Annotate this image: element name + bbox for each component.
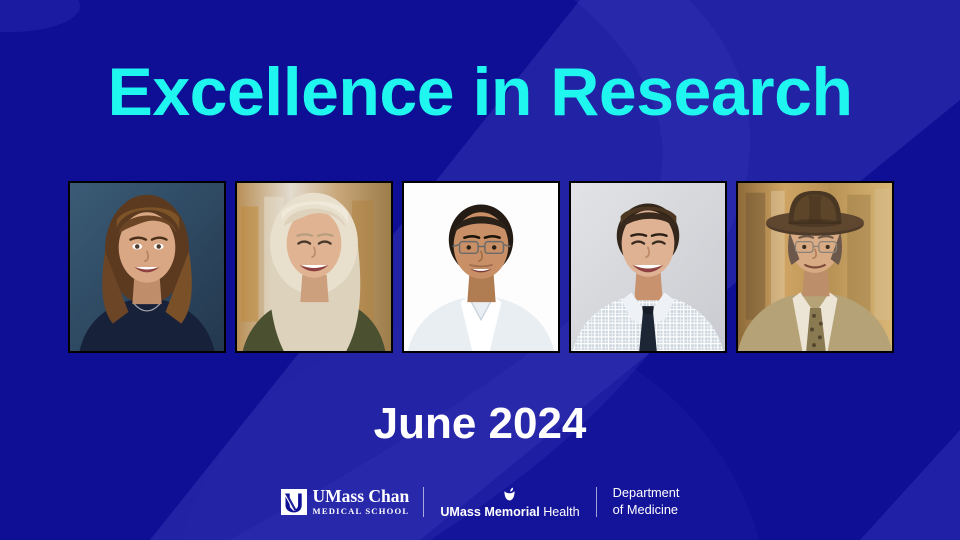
honoree-photo <box>402 181 560 353</box>
umass-chan-logo: UMass Chan MEDICAL SCHOOL <box>281 488 424 516</box>
presentation-title-slide: Excellence in Research <box>0 0 960 540</box>
honoree-photo-strip <box>68 181 894 353</box>
department-line-2: of Medicine <box>613 502 680 519</box>
honoree-photo <box>569 181 727 353</box>
honoree-photo <box>68 181 226 353</box>
slide-title: Excellence in Research <box>0 58 960 126</box>
umass-memorial-name-bold: UMass Memorial <box>440 505 539 519</box>
department-line-1: Department <box>613 485 680 502</box>
umass-chan-wordmark: UMass Chan <box>313 488 410 506</box>
honoree-photo <box>736 181 894 353</box>
umass-memorial-name-light: Health <box>540 505 580 519</box>
umass-memorial-chalice-icon <box>501 486 518 503</box>
logo-bar: UMass Chan MEDICAL SCHOOL UMass Memorial… <box>0 481 960 523</box>
umass-chan-u-emblem-icon <box>281 489 307 515</box>
department-of-medicine-label: Department of Medicine <box>597 485 680 518</box>
umass-memorial-wordmark: UMass Memorial Health <box>440 506 579 519</box>
umass-memorial-health-logo: UMass Memorial Health <box>424 486 595 519</box>
slide-date: June 2024 <box>0 402 960 446</box>
honoree-photo <box>235 181 393 353</box>
umass-chan-subtitle: MEDICAL SCHOOL <box>313 507 410 516</box>
